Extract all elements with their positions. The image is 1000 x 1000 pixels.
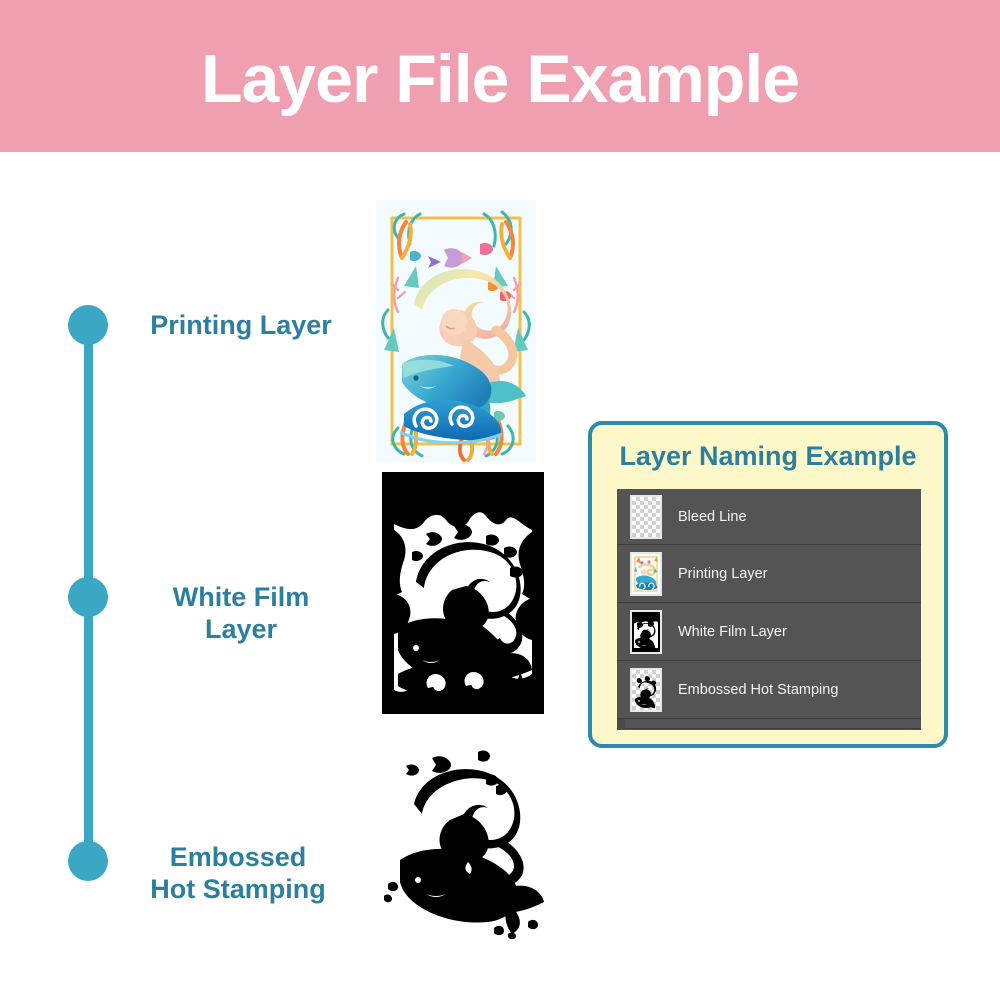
mermaid-color-artwork [376, 200, 536, 462]
page-title: Layer File Example [0, 42, 1000, 116]
layer-name-bleed-line: Bleed Line [678, 509, 747, 525]
layer-naming-card: Layer Naming Example Bleed Line [588, 421, 948, 748]
timeline-dot-embossed-hot-stamping [68, 841, 108, 881]
header-banner: Layer File Example [0, 0, 1000, 152]
timeline-label-white-film-layer: White Film Layer [130, 581, 352, 645]
layer-name-white-film-layer: White Film Layer [678, 624, 787, 640]
timeline-label-printing-layer: Printing Layer [130, 309, 352, 341]
layer-row-embossed-hot-stamping[interactable]: Embossed Hot Stamping [617, 661, 921, 719]
hot-stamping-silhouette-artwork [382, 744, 562, 940]
layer-row-white-film-layer[interactable]: White Film Layer [617, 603, 921, 661]
layer-row-printing-layer[interactable]: Printing Layer [617, 545, 921, 603]
layer-thumbnail-printing-layer[interactable] [630, 552, 662, 596]
layer-thumbnail-bleed-line[interactable] [630, 495, 662, 539]
layer-name-embossed-hot-stamping: Embossed Hot Stamping [678, 682, 838, 698]
layer-thumbnail-embossed-hot-stamping[interactable] [630, 668, 662, 712]
layer-name-printing-layer: Printing Layer [678, 566, 767, 582]
checkerboard-transparent-icon [632, 497, 660, 537]
timeline-dot-printing-layer [68, 305, 108, 345]
timeline-label-embossed-hot-stamping: Embossed Hot Stamping [118, 841, 358, 905]
black-white-mask-icon [632, 612, 660, 652]
layer-row-bleed-line[interactable]: Bleed Line [617, 489, 921, 545]
card-title: Layer Naming Example [592, 441, 944, 472]
layer-thumbnail-white-film-layer[interactable] [630, 610, 662, 654]
color-artwork-icon [632, 554, 660, 594]
silhouette-icon [632, 670, 660, 710]
timeline-dot-white-film-layer [68, 577, 108, 617]
layers-panel[interactable]: Bleed Line [617, 489, 921, 730]
infographic-canvas: Layer File Example Printing Layer White … [0, 0, 1000, 1000]
layer-panel-empty-area [617, 719, 921, 729]
white-film-mask-artwork [382, 472, 544, 714]
